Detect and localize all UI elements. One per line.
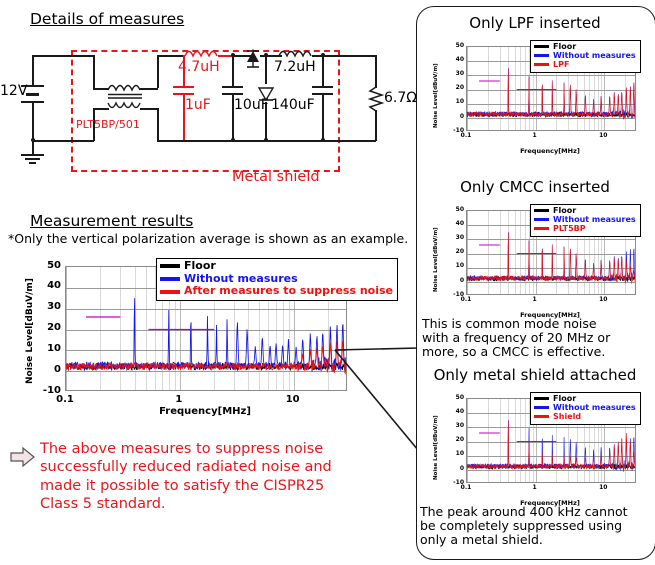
legend-label-floor: Floor <box>553 206 576 215</box>
y-axis-tick: 10 <box>452 99 464 105</box>
chart-lpf-xlabel: Frequency[MHz] <box>500 148 600 155</box>
y-axis-tick: 0 <box>452 114 464 120</box>
series-without-measures <box>467 232 636 282</box>
caption-line: with a frequency of 20 MHz or <box>422 331 652 345</box>
series-without-measures <box>467 420 636 471</box>
legend-row: PLT5BP <box>534 224 636 233</box>
legend-swatch-shield <box>534 415 549 418</box>
caption-line: only a metal shield. <box>420 533 654 547</box>
legend-swatch-lpf <box>534 63 549 66</box>
load-value-label: 6.7Ω <box>384 91 417 105</box>
cap1-value-label: 1uF <box>185 98 211 112</box>
x-axis-tick: 0.1 <box>448 297 484 303</box>
chart-lpf-ylabel: Noise Level[dBuV/m] <box>434 63 440 128</box>
y-axis-tick: 30 <box>452 235 464 241</box>
caption-line: be completely suppressed using <box>420 519 654 533</box>
y-axis-tick: 40 <box>41 281 61 291</box>
node-bot-diode <box>264 138 268 142</box>
legend-row: Without measures <box>534 215 636 224</box>
cap3-plate-top <box>312 86 333 88</box>
y-axis-tick: 0 <box>452 466 464 472</box>
resistor-icon <box>368 86 384 112</box>
wire-cmcc-left-top <box>93 55 95 88</box>
chart-main-ylabel: Noise Level[dBuV/m] <box>26 278 35 384</box>
wire-load-v-bot <box>375 110 377 141</box>
legend-row: Without measures <box>534 403 636 412</box>
y-axis-tick: 10 <box>452 263 464 269</box>
inductor2-value-label: 7.2uH <box>274 60 316 74</box>
x-axis-tick: 10 <box>585 133 621 139</box>
legend-swatch-floor <box>534 45 549 48</box>
right-arrow-icon <box>10 446 36 468</box>
legend-label-without: Without measures <box>553 403 636 412</box>
caption-line: more, so a CMCC is effective. <box>422 345 652 359</box>
chart-shield-legend: Floor Without measures Shield <box>530 392 641 425</box>
y-axis-tick: 10 <box>41 344 61 354</box>
y-axis-tick: 0 <box>41 365 61 375</box>
y-axis-tick: 40 <box>452 57 464 63</box>
chart-lpf-title: Only LPF inserted <box>424 14 646 32</box>
y-axis-tick: 30 <box>452 71 464 77</box>
source-voltage-label: 12V <box>0 84 27 98</box>
legend-label-shield: Shield <box>553 412 581 421</box>
wire-top-rail-1 <box>157 55 183 57</box>
y-axis-tick: 50 <box>41 261 61 271</box>
diode-top-icon <box>243 48 265 74</box>
chart-shield-ylabel: Noise Level[dBuV/m] <box>434 415 440 480</box>
legend-label-after: After measures to suppress noise <box>184 285 393 298</box>
node-cap3-top <box>321 53 325 57</box>
legend-label-floor: Floor <box>553 394 576 403</box>
x-axis-tick: 0.1 <box>47 395 83 405</box>
y-axis-tick: 20 <box>452 437 464 443</box>
y-axis-tick: 20 <box>452 249 464 255</box>
x-axis-tick: 0.1 <box>448 133 484 139</box>
chart-cmcc-ylabel: Noise Level[dBuV/m] <box>434 227 440 292</box>
legend-row: Shield <box>534 412 636 421</box>
y-axis-tick: 50 <box>452 207 464 213</box>
wire-top-left <box>32 55 94 57</box>
legend-row: Floor <box>534 206 636 215</box>
chart-shield: Noise Level[dBuV/m] Frequency[MHz] Floor… <box>424 388 646 513</box>
legend-row: Floor <box>534 394 636 403</box>
x-axis-tick: 10 <box>585 485 621 491</box>
ground-bar-1 <box>21 154 44 156</box>
y-axis-tick: 40 <box>452 409 464 415</box>
x-axis-tick: 1 <box>161 395 197 405</box>
legend-row: Floor <box>160 260 393 273</box>
wire-cmcc-out-bot <box>140 108 158 110</box>
chart-cmcc: Noise Level[dBuV/m] Frequency[MHz] Floor… <box>424 200 646 325</box>
caption-line: This is common mode noise <box>422 317 652 331</box>
ground-bar-3 <box>29 162 36 164</box>
node-bot-cap3 <box>321 138 325 142</box>
wire-cap3-v-bot <box>322 93 324 141</box>
legend-swatch-floor <box>160 264 180 268</box>
chart-lpf-legend: Floor Without measures LPF <box>530 40 641 73</box>
legend-row: Without measures <box>534 51 636 60</box>
cap3-value-label: 140uF <box>271 98 315 112</box>
legend-label-floor: Floor <box>553 42 576 51</box>
chart-shield-caption: The peak around 400 kHz cannot be comple… <box>420 505 654 547</box>
legend-swatch-without <box>534 406 549 409</box>
legend-label-floor: Floor <box>184 260 216 273</box>
chart-cmcc-caption: This is common mode noise with a frequen… <box>422 317 652 359</box>
wire-cap2-v <box>232 55 234 86</box>
legend-swatch-without <box>160 277 180 281</box>
chart-shield-title: Only metal shield attached <box>420 366 650 384</box>
wire-ind1-out <box>218 55 232 57</box>
battery-short-plate <box>26 93 39 96</box>
legend-swatch-without <box>534 218 549 221</box>
legend-label-plt5bp: PLT5BP <box>553 224 586 233</box>
wire-cmcc-right-top <box>157 55 159 88</box>
x-axis-tick: 1 <box>517 297 553 303</box>
legend-label-lpf: LPF <box>553 60 569 69</box>
wire-cmcc-out-top <box>140 88 158 90</box>
cap1-plate-top <box>173 86 194 88</box>
legend-swatch-floor <box>534 209 549 212</box>
x-axis-tick: 1 <box>517 485 553 491</box>
wire-cmcc-right-bot <box>157 108 159 141</box>
series-lpf <box>467 69 636 119</box>
y-axis-tick: 10 <box>452 451 464 457</box>
chart-lpf: Noise Level[dBuV/m] Frequency[MHz] Floor… <box>424 36 646 161</box>
legend-swatch-after <box>160 290 180 294</box>
legend-row: LPF <box>534 60 636 69</box>
chart-cmcc-title: Only CMCC inserted <box>424 178 646 196</box>
chart-main-xlabel: Frequency[MHz] <box>135 407 275 417</box>
series-shield <box>467 421 636 472</box>
cmcc-coil-icon <box>106 76 150 118</box>
y-axis-tick: 50 <box>452 395 464 401</box>
y-axis-tick: 20 <box>452 85 464 91</box>
legend-row: Floor <box>534 42 636 51</box>
chart-main-legend: Floor Without measures After measures to… <box>156 258 398 301</box>
cap2-plate-top <box>222 86 243 88</box>
node-diode2-top <box>264 53 268 57</box>
cmcc-part-label: PLT5BP/501 <box>76 119 140 130</box>
legend-swatch-without <box>534 54 549 57</box>
wire-left-down <box>32 102 34 141</box>
legend-swatch-floor <box>534 397 549 400</box>
legend-label-without: Without measures <box>553 51 636 60</box>
chart-cmcc-legend: Floor Without measures PLT5BP <box>530 204 641 237</box>
ground-stem <box>32 140 34 154</box>
y-axis-tick: 20 <box>41 323 61 333</box>
caption-line: The peak around 400 kHz cannot <box>420 505 654 519</box>
x-axis-tick: 10 <box>585 297 621 303</box>
node-bot-cap2 <box>231 138 235 142</box>
legend-label-without: Without measures <box>553 215 636 224</box>
measurement-results-title: Measurement results <box>30 212 193 230</box>
wire-left-up <box>32 55 34 85</box>
legend-swatch-plt5bp <box>534 227 549 230</box>
y-axis-tick: 0 <box>452 278 464 284</box>
series-plt5bp <box>467 233 636 284</box>
wire-diode2-v-top <box>265 55 267 84</box>
inductor1-value-label: 4.7uH <box>178 60 220 74</box>
y-axis-tick: 50 <box>452 43 464 49</box>
x-axis-tick: 0.1 <box>448 485 484 491</box>
details-of-measures-title: Details of measures <box>30 10 184 28</box>
ground-bar-2 <box>25 158 40 160</box>
legend-row: After measures to suppress noise <box>160 285 393 298</box>
y-axis-tick: 40 <box>452 221 464 227</box>
wire-cap3-v <box>322 55 324 86</box>
y-axis-tick: 30 <box>452 423 464 429</box>
wire-load-v-top <box>375 55 377 88</box>
wire-bottom-left <box>32 140 94 142</box>
battery-long-plate-2 <box>21 101 44 103</box>
x-axis-tick: 1 <box>517 133 553 139</box>
wire-diode2-v-bot <box>265 102 267 141</box>
y-axis-tick: 30 <box>41 302 61 312</box>
